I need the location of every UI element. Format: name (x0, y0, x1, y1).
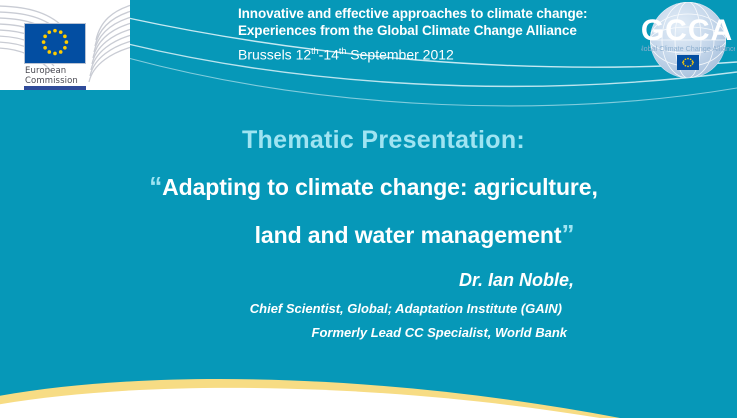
date-mid: -14 (319, 47, 339, 63)
gcca-eu-flag (677, 55, 699, 70)
ec-logo-wordmark: European Commission (25, 66, 125, 86)
ec-logo-blue-bar (24, 86, 86, 90)
event-date-location: Brussels 12th-14th September 2012 (238, 43, 658, 64)
presenter-affiliation-1: Chief Scientist, Global; Adaptation Inst… (0, 301, 737, 316)
date-prefix: Brussels 12 (238, 47, 311, 63)
presentation-title-line2: land and water management” (0, 219, 737, 250)
slide-body: Thematic Presentation: “Adapting to clim… (0, 126, 737, 340)
presentation-title-line1: “Adapting to climate change: agriculture… (0, 171, 737, 202)
presentation-kicker: Thematic Presentation: (0, 126, 737, 155)
date-suffix: September 2012 (346, 47, 453, 63)
presenter-name: Dr. Ian Noble, (0, 270, 737, 291)
presentation-title-slide: European Commission (0, 0, 737, 418)
ec-logo-line1: European (25, 66, 125, 76)
event-title-line2: Experiences from the Global Climate Chan… (238, 23, 658, 40)
ec-logo-line2: Commission (25, 76, 125, 86)
title-text-line2: land and water management (255, 222, 562, 248)
european-commission-logo: European Commission (0, 0, 130, 90)
event-title-line1: Innovative and effective approaches to c… (238, 6, 658, 23)
open-quote-mark: “ (149, 171, 162, 201)
close-quote-mark: ” (561, 219, 574, 249)
presenter-affiliation-2: Formerly Lead CC Specialist, World Bank (0, 325, 737, 340)
eu-flag-stars (25, 24, 85, 63)
date-sup-1: th (311, 46, 319, 56)
event-header: Innovative and effective approaches to c… (238, 6, 658, 64)
title-text-line1: Adapting to climate change: agriculture, (162, 174, 598, 200)
eu-flag (24, 23, 86, 64)
